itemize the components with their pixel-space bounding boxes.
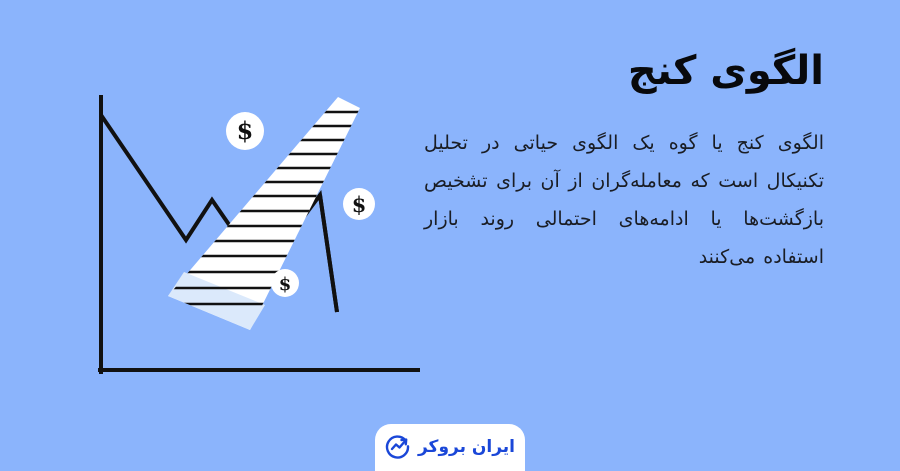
brand-logo-pill[interactable]: ایران بروکر xyxy=(375,424,525,471)
dollar-coin-bottom: $ xyxy=(271,269,299,297)
body-paragraph: الگوی کنج یا گوه یک الگوی حیاتی در تحلیل… xyxy=(424,124,824,276)
page-title: الگوی کنج xyxy=(424,46,824,96)
dollar-coin-bottom-symbol: $ xyxy=(279,274,292,295)
dollar-coin-right: $ xyxy=(343,188,375,220)
dollar-coin-top: $ xyxy=(226,112,264,150)
poster-canvas: $ $ $ الگوی کنج الگوی کنج یا گوه یک الگو… xyxy=(0,0,900,471)
brand-logo-text: ایران بروکر xyxy=(418,437,515,457)
price-zigzag-line-overlay xyxy=(320,195,337,312)
dollar-coin-top-symbol: $ xyxy=(237,116,254,145)
wedge-pattern-illustration: $ $ $ xyxy=(60,60,460,400)
dollar-coin-right-symbol: $ xyxy=(352,192,367,217)
text-block: الگوی کنج الگوی کنج یا گوه یک الگوی حیات… xyxy=(424,46,824,276)
trend-up-circle-icon xyxy=(385,434,411,460)
